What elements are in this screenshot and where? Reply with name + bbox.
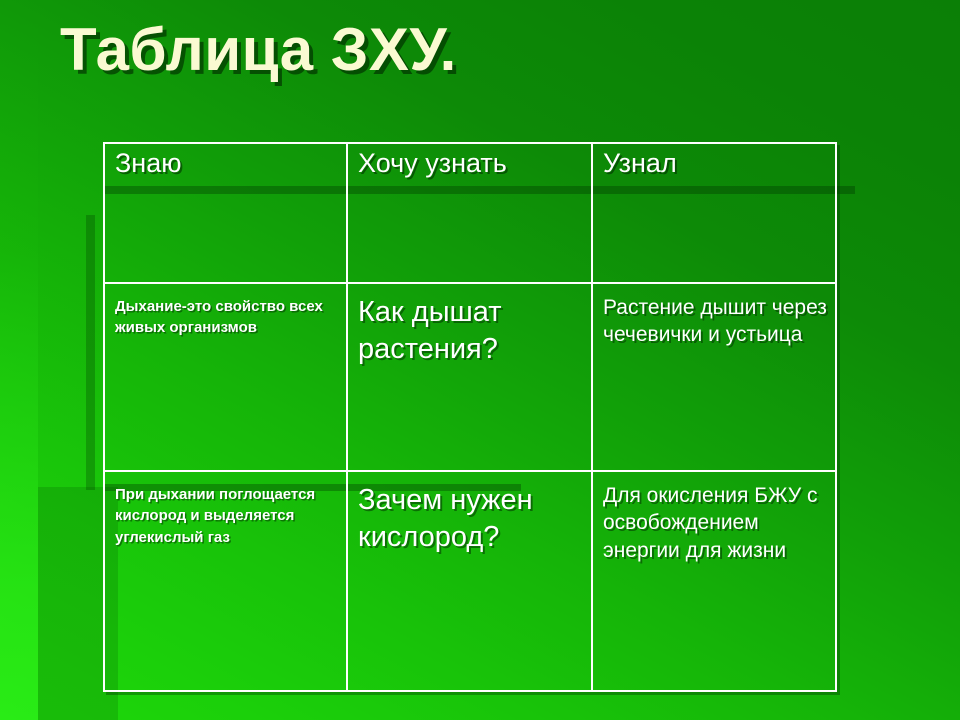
cell-know-2: При дыхании поглощается кислород и выдел…	[104, 471, 347, 691]
table-row: Дыхание-это свойство всех живых организм…	[104, 283, 836, 471]
column-header-learned: Узнал	[592, 143, 836, 283]
slide-title: Таблица ЗХУ.	[60, 18, 457, 81]
slide-canvas: Таблица ЗХУ. Знаю Хочу узнать Узнал Дыха…	[0, 0, 960, 720]
cell-want-2: Зачем нужен кислород?	[347, 471, 592, 691]
cell-want-1: Как дышат растения?	[347, 283, 592, 471]
cell-learned-2: Для окисления БЖУ с освобождением энерги…	[592, 471, 836, 691]
zhu-table: Знаю Хочу узнать Узнал Дыхание-это свойс…	[103, 142, 837, 692]
column-header-know: Знаю	[104, 143, 347, 283]
cell-know-1: Дыхание-это свойство всех живых организм…	[104, 283, 347, 471]
table-header-row: Знаю Хочу узнать Узнал	[104, 143, 836, 283]
cell-learned-1: Растение дышит через чечевички и устьица	[592, 283, 836, 471]
column-header-want-to-know: Хочу узнать	[347, 143, 592, 283]
table-row: При дыхании поглощается кислород и выдел…	[104, 471, 836, 691]
